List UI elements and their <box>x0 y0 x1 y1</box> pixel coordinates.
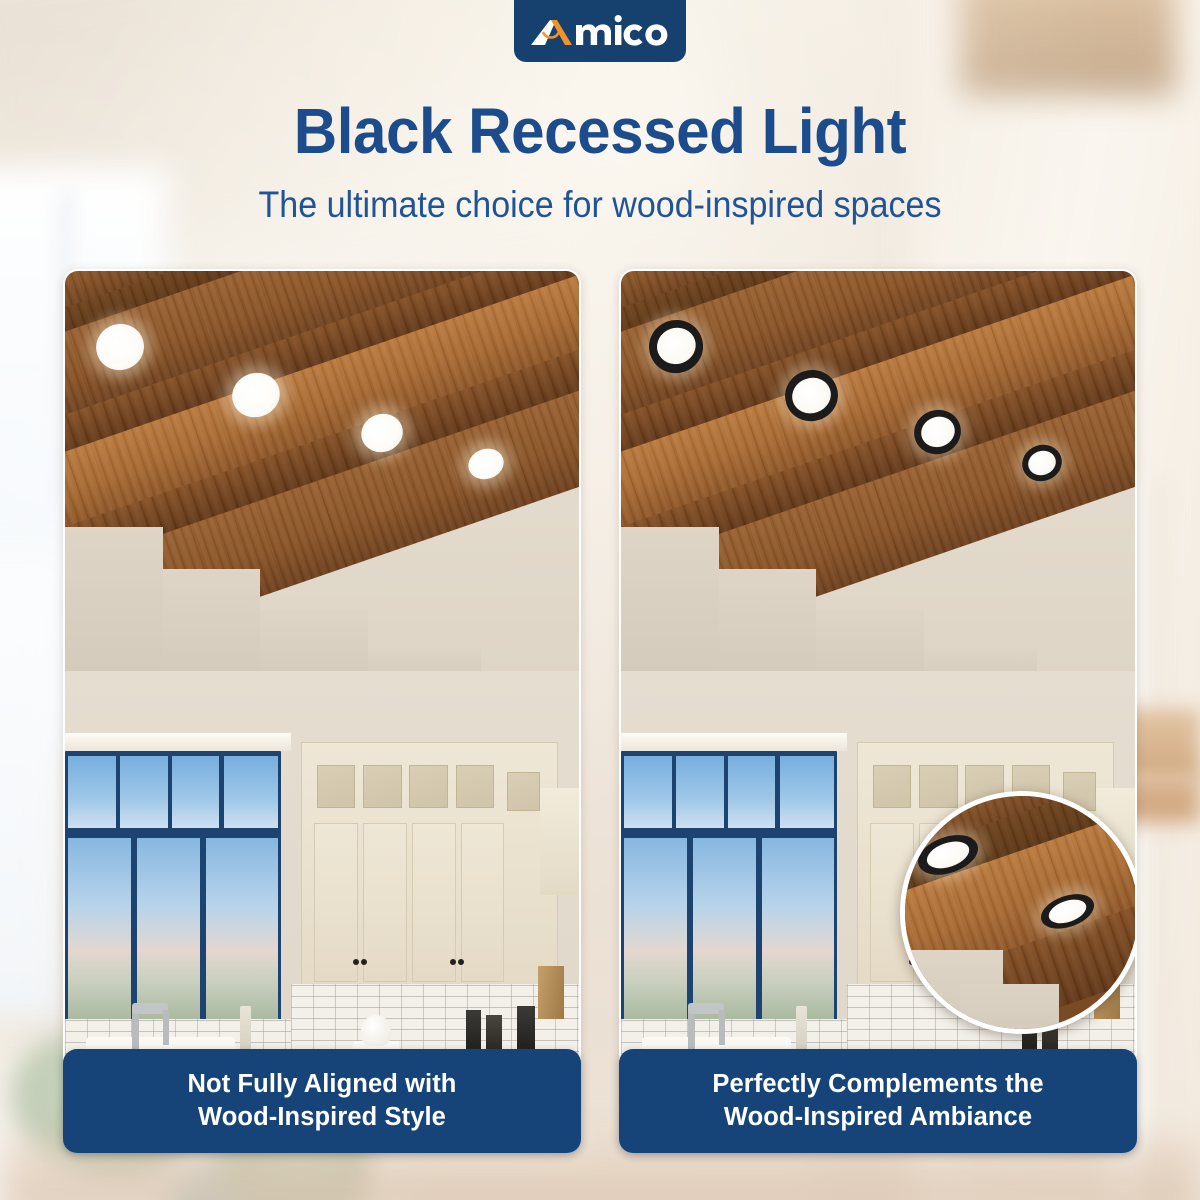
transom-pane-2 <box>120 756 167 828</box>
transom-window-frame <box>65 751 281 835</box>
transom-pane-4 <box>224 756 278 828</box>
caption-right: Perfectly Complements the Wood-Inspired … <box>619 1049 1137 1153</box>
ceiling-soffit-1 <box>621 527 719 684</box>
mag-soffit-2 <box>960 984 1060 1034</box>
caption-right-line2: Wood-Inspired Ambiance <box>724 1101 1032 1134</box>
canister-1 <box>466 1010 481 1054</box>
kitchen-window-frame <box>65 830 281 1028</box>
kitchen-scene-black-trim <box>621 271 1135 1151</box>
window-pane-2 <box>693 838 756 1020</box>
white-bowl <box>361 1015 392 1047</box>
cabinet-glass-4 <box>456 765 495 808</box>
window-pane-3 <box>206 838 277 1020</box>
window-pane-1 <box>624 838 687 1020</box>
utensil-crock <box>538 966 564 1019</box>
cabinet-door-4 <box>461 823 505 981</box>
magnifier-content <box>903 794 1135 1031</box>
cabinet-glass-3 <box>409 765 448 808</box>
amico-wordmark-icon <box>529 11 671 51</box>
window-pane-1 <box>68 838 131 1020</box>
caption-left: Not Fully Aligned with Wood-Inspired Sty… <box>63 1049 581 1153</box>
transom-pane-2 <box>676 756 723 828</box>
upper-cabinets <box>301 742 558 997</box>
transom-pane-1 <box>68 756 115 828</box>
kitchen-scene-white-trim <box>65 271 579 1151</box>
window-pane-2 <box>137 838 200 1020</box>
cabinet-knob-2 <box>361 959 367 965</box>
magnifier-closeup[interactable] <box>900 791 1135 1034</box>
ceiling-soffit-1 <box>65 527 163 684</box>
comparison-panel-left[interactable] <box>63 269 581 1153</box>
cabinet-knob-1 <box>353 959 359 965</box>
faucet-neck <box>163 1010 170 1045</box>
cabinet-door-3 <box>412 823 456 981</box>
window-pane-3 <box>762 838 833 1020</box>
transom-pane-3 <box>728 756 775 828</box>
faucet-neck <box>719 1010 726 1045</box>
transom-pane-3 <box>172 756 219 828</box>
caption-left-line2: Wood-Inspired Style <box>198 1101 446 1134</box>
range-hood <box>540 788 579 895</box>
ceiling-soffit-2 <box>163 569 261 685</box>
amico-logo-badge <box>514 0 686 62</box>
page-title: Black Recessed Light <box>36 98 1164 165</box>
crown-moulding <box>65 733 291 751</box>
caption-left-line1: Not Fully Aligned with <box>188 1068 457 1101</box>
caption-right-line1: Perfectly Complements the <box>712 1068 1043 1101</box>
transom-pane-1 <box>624 756 671 828</box>
cabinet-glass-5 <box>507 772 540 810</box>
ceiling-soffit-2 <box>719 569 817 685</box>
cabinet-door-2 <box>363 823 407 981</box>
kitchen-window-frame <box>621 830 837 1028</box>
cabinet-knob-4 <box>458 959 464 965</box>
cabinet-door-1 <box>314 823 358 981</box>
comparison-panel-right[interactable] <box>619 269 1137 1153</box>
crown-moulding <box>621 733 847 751</box>
page-subtitle: The ultimate choice for wood-inspired sp… <box>48 184 1152 227</box>
transom-window-frame <box>621 751 837 835</box>
cabinet-glass-2 <box>363 765 402 808</box>
canister-3 <box>517 1006 534 1054</box>
transom-pane-4 <box>780 756 834 828</box>
cabinet-glass-1 <box>317 765 356 808</box>
wood-beam-ceiling <box>65 271 579 685</box>
